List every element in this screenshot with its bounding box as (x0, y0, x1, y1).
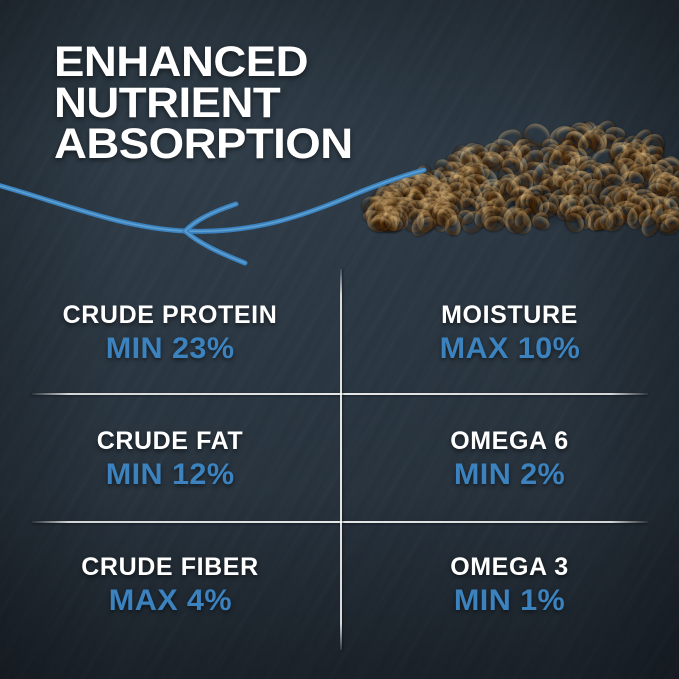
nutrition-infographic: ENHANCED NUTRIENT ABSORPTION CRUDE PROTE… (0, 0, 679, 679)
curved-arrow-icon (0, 158, 430, 268)
nutrient-label: OMEGA 3 (450, 553, 569, 582)
nutrient-value: MIN 23% (106, 332, 235, 366)
nutrition-cell-crude-protein: CRUDE PROTEIN MIN 23% (0, 272, 340, 398)
page-title-line-1: ENHANCED (54, 42, 353, 83)
nutrient-label: MOISTURE (441, 301, 578, 330)
nutrition-cell-crude-fiber: CRUDE FIBER MAX 4% (0, 524, 340, 650)
nutrition-cell-moisture: MOISTURE MAX 10% (340, 272, 679, 398)
nutrition-table: CRUDE PROTEIN MIN 23% MOISTURE MAX 10% C… (0, 272, 679, 650)
page-title-line-2: NUTRIENT (54, 83, 353, 124)
nutrition-cell-omega-3: OMEGA 3 MIN 1% (340, 524, 679, 650)
nutrient-value: MAX 10% (439, 332, 580, 366)
nutrition-cell-crude-fat: CRUDE FAT MIN 12% (0, 398, 340, 524)
nutrient-value: MIN 1% (454, 584, 565, 618)
nutrition-cell-omega-6: OMEGA 6 MIN 2% (340, 398, 679, 524)
page-title: ENHANCED NUTRIENT ABSORPTION (54, 42, 353, 165)
nutrient-label: CRUDE PROTEIN (63, 301, 278, 330)
nutrient-label: OMEGA 6 (450, 427, 569, 456)
nutrient-value: MAX 4% (108, 584, 231, 618)
nutrient-value: MIN 12% (106, 458, 235, 492)
nutrient-label: CRUDE FAT (97, 427, 244, 456)
nutrient-label: CRUDE FIBER (81, 553, 258, 582)
nutrient-value: MIN 2% (454, 458, 565, 492)
